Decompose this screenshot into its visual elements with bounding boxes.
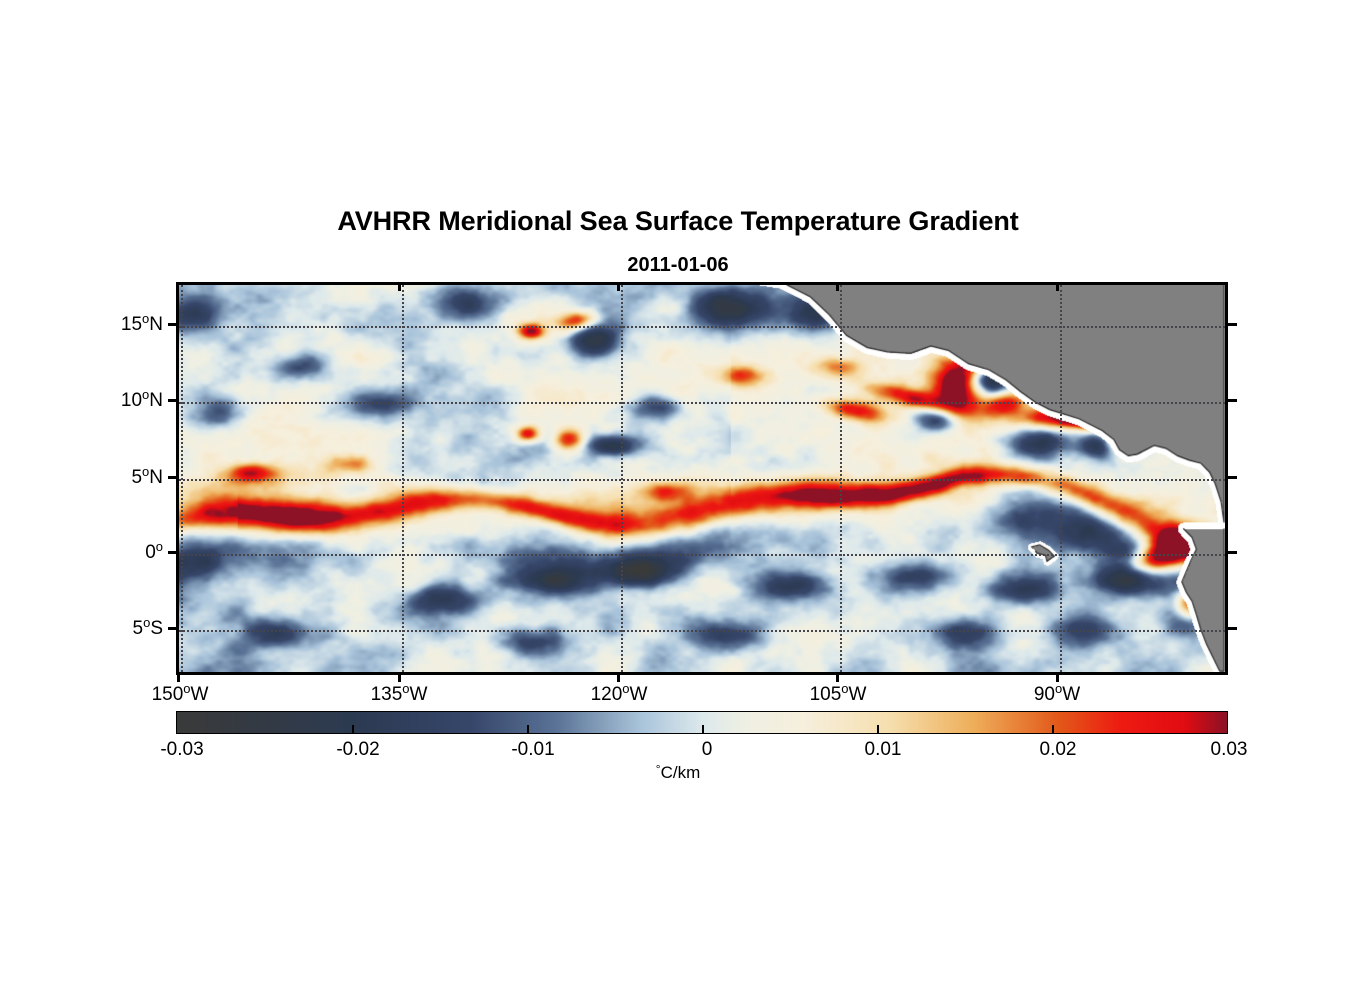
figure-canvas: AVHRR Meridional Sea Surface Temperature… — [0, 0, 1356, 1000]
cb-label-neg-003: -0.03 — [160, 739, 203, 761]
ytick-15n — [168, 323, 177, 326]
ytick-label-0: 0o — [145, 539, 163, 564]
cb-label-zero: 0 — [702, 739, 713, 761]
xtick-top-105w — [836, 282, 839, 291]
ytick-right-5n — [1228, 476, 1237, 479]
cb-label-pos-001: 0.01 — [865, 739, 902, 761]
xtick-top-120w — [617, 282, 620, 291]
cb-label-neg-002: -0.02 — [336, 739, 379, 761]
xtick-label-105w: 105oW — [810, 681, 867, 706]
colorbar-unit-label: °C/km — [0, 762, 1356, 783]
xtick-label-120w: 120oW — [591, 681, 648, 706]
ytick-right-5s — [1228, 627, 1237, 630]
ytick-5n — [168, 476, 177, 479]
sst-gradient-heatmap — [179, 285, 1225, 672]
xtick-label-135w: 135oW — [371, 681, 428, 706]
cb-tick-0 — [352, 725, 354, 734]
ytick-label-15n: 15oN — [121, 311, 163, 336]
xtick-top-135w — [398, 282, 401, 291]
ytick-label-5n: 5oN — [131, 464, 163, 489]
cb-label-pos-002: 0.02 — [1040, 739, 1077, 761]
cb-label-neg-001: -0.01 — [511, 739, 554, 761]
ytick-right-0 — [1228, 551, 1237, 554]
xtick-label-150w: 150oW — [152, 681, 209, 706]
page-title: AVHRR Meridional Sea Surface Temperature… — [0, 206, 1356, 237]
map-plot-area[interactable] — [176, 282, 1228, 675]
ytick-label-10n: 10oN — [121, 387, 163, 412]
cb-label-pos-003: 0.03 — [1211, 739, 1248, 761]
cb-tick-1 — [527, 725, 529, 734]
ytick-5s — [168, 627, 177, 630]
xtick-top-90w — [1056, 282, 1059, 291]
cb-tick-2 — [702, 725, 704, 734]
cb-tick-4 — [1052, 725, 1054, 734]
ytick-right-10n — [1228, 399, 1237, 402]
ytick-0 — [168, 551, 177, 554]
ytick-label-5s: 5oS — [133, 615, 164, 640]
ytick-10n — [168, 399, 177, 402]
cb-tick-3 — [877, 725, 879, 734]
figure-subtitle: 2011-01-06 — [0, 254, 1356, 277]
ytick-right-15n — [1228, 323, 1237, 326]
xtick-label-90w: 90oW — [1034, 681, 1080, 706]
